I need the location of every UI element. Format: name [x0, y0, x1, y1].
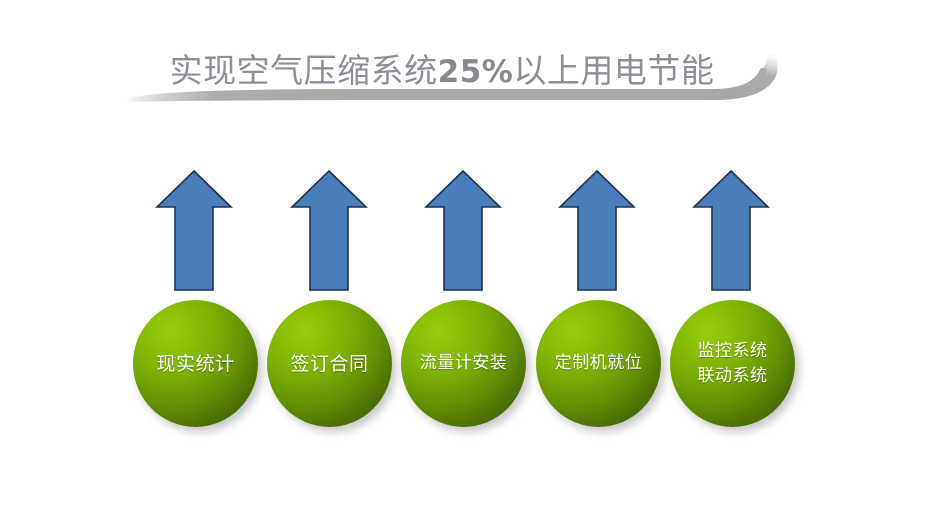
- arrow-up-icon-1: [155, 168, 233, 294]
- process-node-label: 定制机就位: [555, 351, 643, 376]
- page-title: 实现空气压缩系统25%以上用电节能: [122, 48, 762, 95]
- arrow-up-icon-5: [692, 168, 770, 294]
- process-node-label: 流量计安装: [420, 351, 508, 376]
- title-block: 实现空气压缩系统25%以上用电节能: [122, 38, 822, 138]
- process-node-1[interactable]: 现实统计: [133, 300, 258, 427]
- title-accent-percent: 25%: [438, 54, 514, 90]
- process-node-2[interactable]: 签订合同: [267, 300, 392, 427]
- process-node-3[interactable]: 流量计安装: [401, 300, 526, 427]
- process-node-label: 签订合同: [290, 351, 368, 377]
- arrow-up-icon-2: [290, 168, 368, 294]
- process-node-5[interactable]: 监控系统 联动系统: [670, 300, 795, 427]
- process-node-label: 监控系统 联动系统: [698, 339, 768, 389]
- title-part-before: 实现空气压缩系统: [170, 51, 438, 90]
- process-node-4[interactable]: 定制机就位: [536, 300, 661, 427]
- process-node-label: 现实统计: [156, 351, 234, 377]
- arrow-up-icon-4: [558, 168, 636, 294]
- arrow-up-icon-3: [424, 168, 502, 294]
- slide-canvas: 实现空气压缩系统25%以上用电节能 现实统计 签订合同 流量计安装: [0, 0, 945, 529]
- title-part-after: 以上用电节能: [513, 51, 714, 90]
